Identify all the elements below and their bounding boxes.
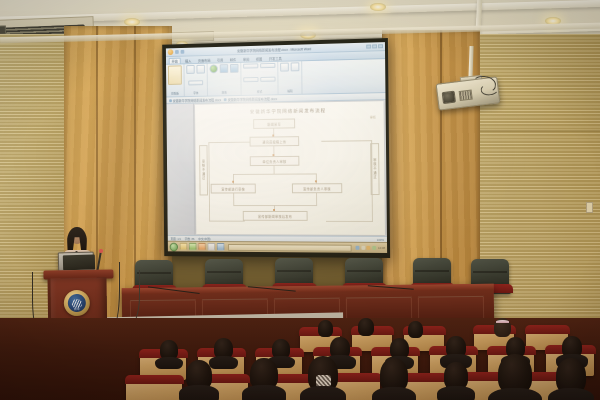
- tab-mailings[interactable]: 邮件: [228, 57, 238, 62]
- bullets-icon[interactable]: [209, 64, 217, 73]
- tab-review[interactable]: 审阅: [241, 57, 251, 62]
- document-chip-label: 安徽新华学院网络新闻发布流程.docx: [173, 97, 221, 103]
- document-icon: [224, 98, 227, 101]
- shield-icon[interactable]: [367, 246, 371, 250]
- navigation-pane[interactable]: [166, 104, 195, 235]
- flow-feedback-left: [209, 221, 245, 222]
- flow-connector: [316, 193, 317, 205]
- tab-page-layout[interactable]: 页面布局: [196, 58, 212, 63]
- slide-title: 安徽新华学院网络新闻发布流程: [195, 107, 384, 116]
- chair-seam: [473, 271, 507, 273]
- hair-accessory: [316, 375, 332, 387]
- style-normal-button[interactable]: [243, 63, 258, 68]
- flow-node-n1: 新闻采写: [253, 118, 295, 128]
- ribbon-group-clipboard[interactable]: 剪贴板: [166, 64, 185, 96]
- ribbon-group-label: 字体: [193, 91, 198, 95]
- flow-feedback-left: [208, 142, 250, 143]
- chair-seam: [137, 272, 171, 274]
- chair-seam: [277, 270, 311, 272]
- network-icon[interactable]: [356, 246, 360, 250]
- ime-icon[interactable]: [372, 246, 376, 250]
- projector-lens: [442, 91, 456, 104]
- emblem-label: 新华: [68, 307, 86, 311]
- ribbon-row[interactable]: [186, 65, 205, 74]
- projected-desktop[interactable]: 安徽新华学院网络新闻发布流程.docx - Microsoft Word 开始 …: [166, 42, 387, 253]
- audience-member: [390, 338, 409, 359]
- ribbon-group-label: 编辑: [287, 89, 292, 93]
- flow-arrow: [232, 181, 234, 183]
- font-size-input[interactable]: [188, 80, 203, 85]
- chair-seam: [207, 271, 241, 273]
- undo-icon[interactable]: [181, 50, 185, 54]
- podium-microphone-head: [99, 249, 103, 253]
- bold-icon[interactable]: [186, 65, 194, 74]
- person-head: [358, 318, 374, 336]
- hair-accessory: [496, 320, 509, 323]
- flow-side-label-left: 审核不通过: [199, 145, 208, 195]
- minimize-icon[interactable]: [366, 45, 371, 49]
- document-chip[interactable]: 安徽新华学院网络新闻发布流程.docx: [224, 96, 277, 102]
- flow-merge-bus: [233, 205, 317, 206]
- flow-node-n4: 宣传部进行审核: [211, 184, 256, 194]
- person-head: [318, 320, 333, 337]
- align-icon[interactable]: [230, 64, 239, 73]
- flow-node-n5: 宣传部负责人审核: [292, 183, 342, 193]
- close-icon[interactable]: [378, 44, 383, 48]
- audience-member: [358, 318, 374, 336]
- audience-member: [160, 340, 178, 360]
- auditorium-seat[interactable]: [126, 376, 182, 400]
- laptop-screen[interactable]: [63, 255, 95, 271]
- wall-outlet: [586, 202, 593, 213]
- audience-member: [272, 339, 290, 359]
- chair-back: [275, 258, 313, 286]
- flow-node-n2: 通讯员投稿上传: [250, 136, 300, 146]
- ribbon-row[interactable]: [209, 64, 238, 73]
- chair-back: [345, 258, 383, 286]
- paste-icon[interactable]: [168, 65, 182, 85]
- document-icon: [169, 99, 172, 102]
- taskbar-window-button[interactable]: [228, 244, 352, 252]
- chair-seam: [347, 270, 381, 272]
- person-shoulders: [300, 386, 347, 400]
- word-icon[interactable]: [217, 243, 225, 251]
- taskbar-clock: 14:08: [378, 246, 385, 250]
- person-shoulders: [548, 388, 595, 400]
- tab-insert[interactable]: 插入: [183, 58, 193, 63]
- document-area[interactable]: 安徽新华学院网络新闻发布流程 审核 审核不通过 审核不通过 新闻采写 通讯员投稿…: [166, 100, 387, 236]
- chair-back: [413, 258, 451, 286]
- status-page: 页面: 1/1: [171, 236, 182, 240]
- person-shoulders: [437, 386, 474, 400]
- wall-panel-seam: [470, 130, 600, 132]
- person-shoulders: [179, 385, 220, 400]
- chair-back: [135, 260, 173, 288]
- ribbon-row[interactable]: [243, 76, 275, 82]
- browser-icon[interactable]: [198, 243, 206, 251]
- status-words: 字数: 86: [185, 236, 195, 240]
- audience-member: [494, 318, 511, 337]
- person-shoulders: [372, 387, 416, 400]
- media-icon[interactable]: [189, 243, 196, 251]
- window-controls[interactable]: [366, 44, 383, 48]
- tab-home[interactable]: 开始: [169, 58, 181, 64]
- audience-member: [562, 336, 582, 358]
- system-tray[interactable]: [356, 246, 376, 250]
- style-heading3-button[interactable]: [260, 76, 275, 81]
- italic-icon[interactable]: [196, 65, 204, 74]
- status-language: 中文(中国): [198, 237, 211, 241]
- audience-member: [446, 336, 466, 358]
- audience-member: [380, 358, 408, 392]
- lecture-hall-photo: 安徽新华学院网络新闻发布流程.docx - Microsoft Word 开始 …: [0, 0, 600, 400]
- folder-icon[interactable]: [208, 243, 216, 251]
- audience-member: [250, 358, 278, 390]
- ribbon-group-label: 剪贴板: [171, 91, 179, 95]
- zoom-level[interactable]: 100%: [377, 237, 384, 241]
- flow-feedback-left: [208, 142, 210, 221]
- flow-arrow: [315, 180, 317, 182]
- flow-node-n3: 单位负责人审核: [250, 156, 300, 166]
- ribbon-row[interactable]: [243, 63, 275, 69]
- volume-icon[interactable]: [361, 246, 365, 250]
- flow-branch-bus: [233, 173, 317, 174]
- ribbon-group-editing[interactable]: 编辑: [278, 61, 302, 94]
- chair-seam: [415, 270, 449, 272]
- person-shoulders: [242, 385, 286, 400]
- replace-icon[interactable]: [291, 62, 300, 71]
- ribbon-group-label: 段落: [222, 90, 227, 94]
- projector-vent: [459, 90, 473, 102]
- projection-screen: 安徽新华学院网络新闻发布流程.docx - Microsoft Word 开始 …: [162, 38, 390, 258]
- person-shoulders: [209, 356, 239, 369]
- document-page[interactable]: 安徽新华学院网络新闻发布流程 审核 审核不通过 审核不通过 新闻采写 通讯员投稿…: [195, 101, 385, 235]
- audience-member: [308, 356, 338, 392]
- office-orb-icon[interactable]: [168, 49, 174, 55]
- audience-member: [444, 362, 468, 390]
- tab-view[interactable]: 视图: [254, 56, 264, 61]
- tab-references[interactable]: 引用: [215, 57, 225, 62]
- ribbon-row[interactable]: [280, 62, 299, 71]
- person-shoulders: [155, 357, 183, 369]
- explorer-icon[interactable]: [180, 243, 187, 251]
- flow-connector: [274, 166, 275, 174]
- style-heading2-button[interactable]: [243, 77, 258, 82]
- ribbon-row[interactable]: [168, 65, 182, 85]
- audience-member: [214, 338, 233, 359]
- taskbar[interactable]: 14:08: [168, 241, 387, 253]
- ribbon-group-font[interactable]: 字体: [184, 64, 207, 96]
- ceiling-downlight: [124, 18, 140, 26]
- audience-member: [408, 321, 423, 338]
- flow-feedback-right: [321, 140, 372, 141]
- maximize-icon[interactable]: [372, 44, 377, 48]
- ribbon-group-paragraph[interactable]: 段落: [208, 63, 242, 96]
- flow-node-n6: 宣传部新闻审核后发布: [243, 211, 308, 221]
- audience-member: [186, 360, 212, 390]
- ribbon-group-styles[interactable]: 样式: [241, 62, 278, 95]
- chair-back: [205, 259, 243, 287]
- person-head: [408, 321, 423, 338]
- ceiling-downlight: [370, 3, 386, 11]
- document-chip[interactable]: 安徽新华学院网络新闻发布流程.docx: [169, 97, 221, 103]
- flow-feedback-right: [326, 221, 373, 222]
- audience-member: [498, 354, 532, 394]
- audience-member: [318, 320, 333, 337]
- flowchart: 审核不通过 审核不通过 新闻采写 通讯员投稿上传 单位负责人审核: [195, 117, 385, 235]
- audience-area: [0, 318, 600, 400]
- document-chip-label: 安徽新华学院网络新闻发布流程.docx: [228, 96, 277, 102]
- start-button[interactable]: [170, 242, 178, 251]
- tab-developer[interactable]: 开发工具: [267, 56, 284, 61]
- ribbon-group-label: 样式: [257, 90, 262, 94]
- save-icon[interactable]: [175, 50, 179, 54]
- numbering-icon[interactable]: [220, 64, 229, 73]
- ribbon-row[interactable]: [188, 80, 203, 85]
- laptop-lid: [58, 252, 94, 272]
- flow-connector: [233, 193, 234, 205]
- find-icon[interactable]: [280, 63, 289, 72]
- ribbon[interactable]: 剪贴板 字体: [166, 59, 385, 97]
- audience-member: [556, 358, 586, 394]
- style-heading1-button[interactable]: [260, 63, 275, 68]
